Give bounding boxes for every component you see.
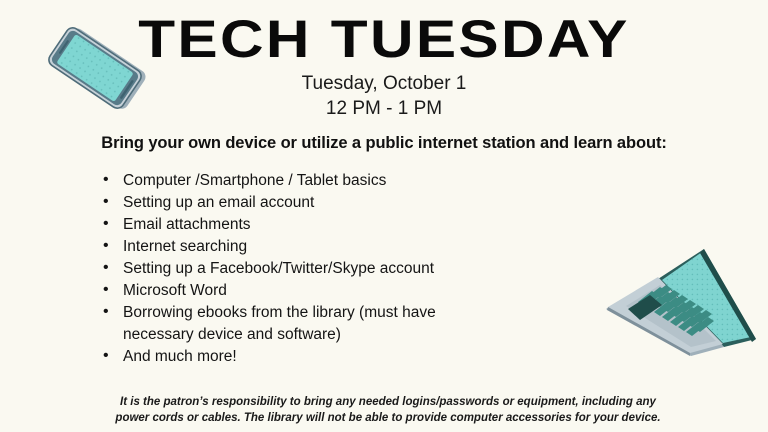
list-item: Borrowing ebooks from the library (must … xyxy=(100,302,503,346)
event-time: 12 PM - 1 PM xyxy=(0,96,768,121)
list-item: Setting up a Facebook/Twitter/Skype acco… xyxy=(100,258,530,280)
list-item: Email attachments xyxy=(100,214,530,236)
topics-list: Computer /Smartphone / Tablet basics Set… xyxy=(100,170,530,368)
title-block: TECH TUESDAY Tuesday, October 1 12 PM - … xyxy=(0,14,768,121)
laptop-illustration xyxy=(596,243,768,363)
list-item: Internet searching xyxy=(100,236,530,258)
page-title: TECH TUESDAY xyxy=(0,14,768,65)
list-item: Computer /Smartphone / Tablet basics xyxy=(100,170,530,192)
list-item: Setting up an email account xyxy=(100,192,530,214)
list-item: Microsoft Word xyxy=(100,280,530,302)
lead-text: Bring your own device or utilize a publi… xyxy=(0,134,768,153)
list-item: And much more! xyxy=(100,346,530,368)
disclaimer-text: It is the patron’s responsibility to bri… xyxy=(110,394,666,426)
poster-canvas: TECH TUESDAY Tuesday, October 1 12 PM - … xyxy=(0,0,768,432)
event-date: Tuesday, October 1 xyxy=(0,72,768,96)
